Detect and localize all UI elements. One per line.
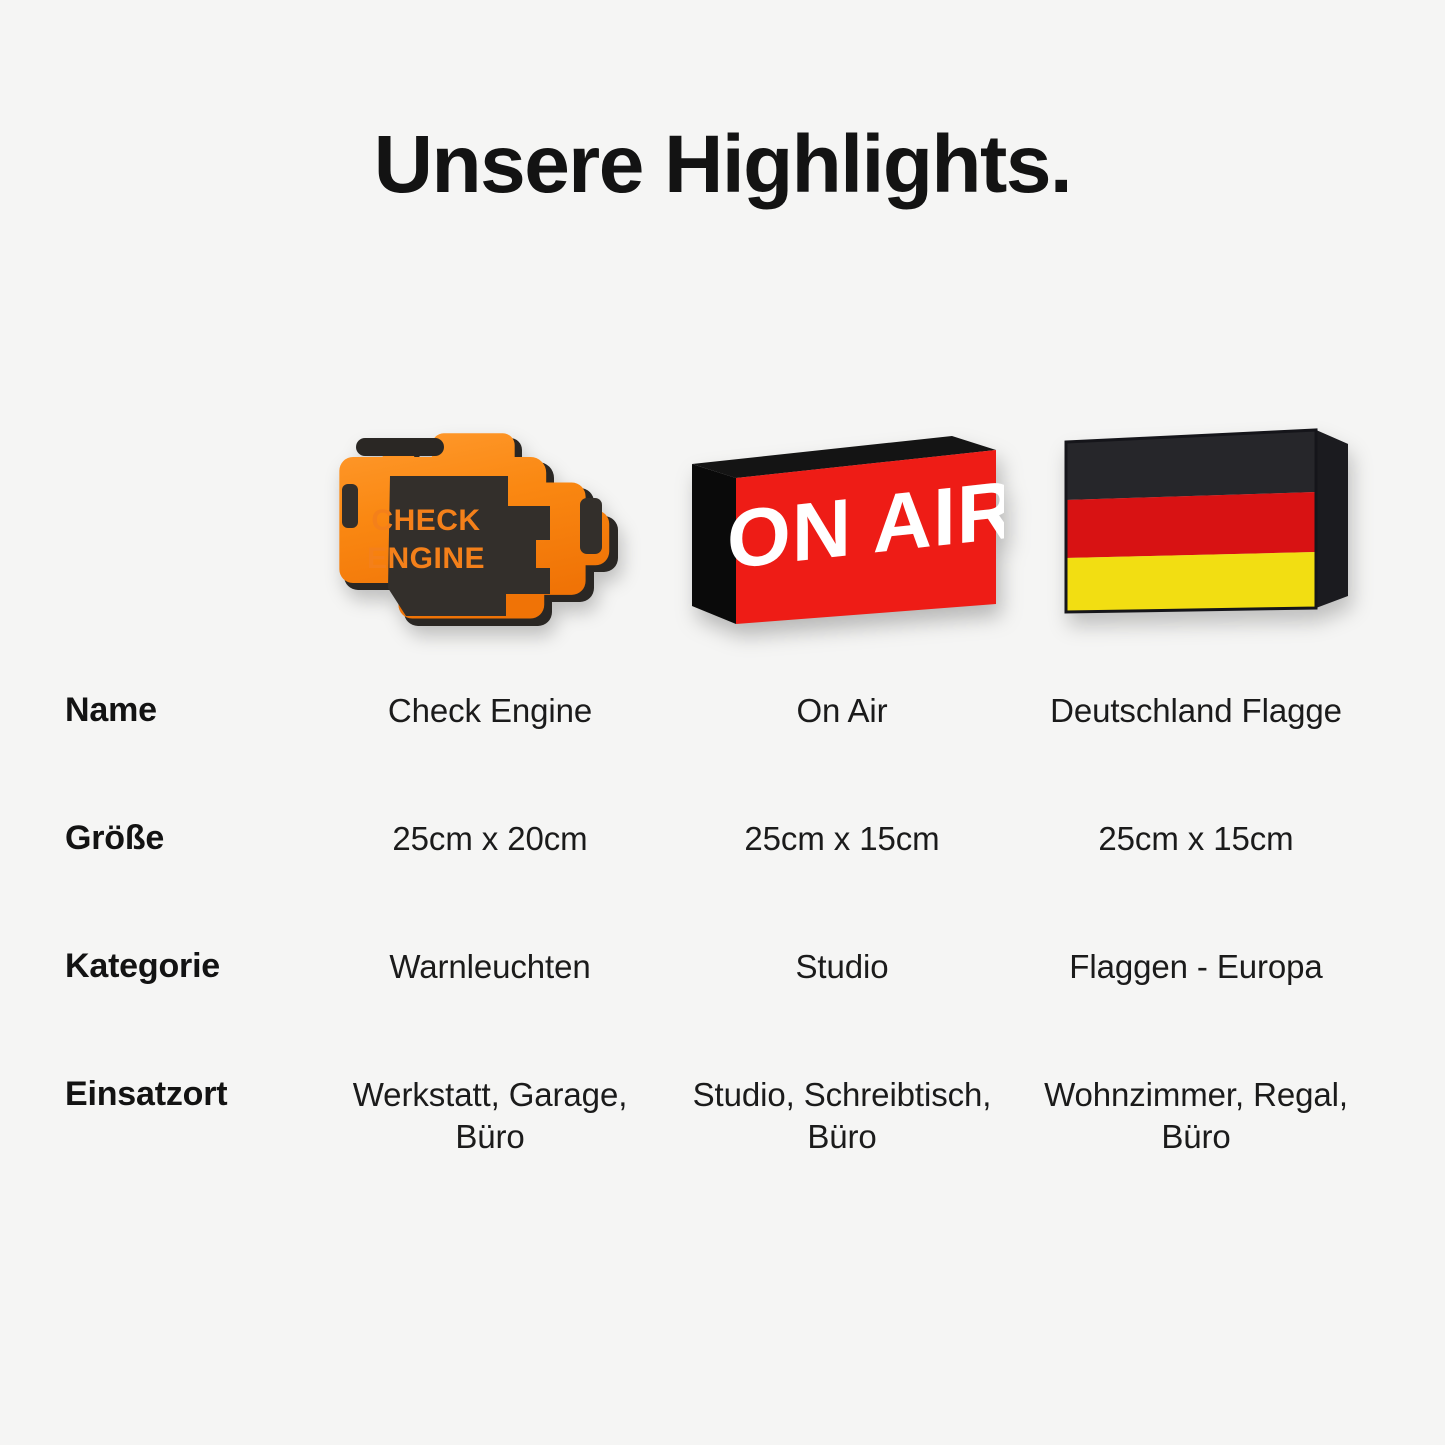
flag-side-face [1316,430,1348,608]
product-image-check-engine[interactable]: CHECK ENGINE [320,410,660,660]
page-title: Unsere Highlights. [0,124,1445,206]
cell-einsatzort-deutschland-flagge: Wohnzimmer, Regal, Büro [1026,1074,1366,1158]
check-engine-label-line1: CHECK [371,504,480,537]
cell-groesse-on-air: 25cm x 15cm [672,818,1012,860]
product-image-row: CHECK ENGINE ON AIR [0,410,1445,660]
product-image-deutschland-flagge[interactable] [1026,410,1366,660]
cell-einsatzort-check-engine: Werkstatt, Garage, Büro [320,1074,660,1158]
highlights-page: Unsere Highlights. [0,0,1445,1445]
cell-kategorie-check-engine: Warnleuchten [320,946,660,988]
on-air-lightbox-icon: ON AIR [684,428,1004,638]
table-row: Größe 25cm x 20cm 25cm x 15cm 25cm x 15c… [0,818,1445,946]
german-flag-lightbox-icon [1048,418,1368,634]
table-row: Name Check Engine On Air Deutschland Fla… [0,690,1445,818]
cell-groesse-deutschland-flagge: 25cm x 15cm [1026,818,1366,860]
check-engine-svg: CHECK ENGINE [328,416,648,648]
german-flag-svg [1048,418,1368,634]
table-row: Kategorie Warnleuchten Studio Flaggen - … [0,946,1445,1074]
check-engine-label-line2: ENGINE [367,542,485,575]
flag-band-gold [1066,552,1316,612]
table-row: Einsatzort Werkstatt, Garage, Büro Studi… [0,1074,1445,1224]
flag-band-red [1066,492,1316,558]
cell-name-on-air: On Air [672,690,1012,732]
product-image-on-air[interactable]: ON AIR [672,410,1012,660]
cell-kategorie-deutschland-flagge: Flaggen - Europa [1026,946,1366,988]
cell-einsatzort-on-air: Studio, Schreibtisch, Büro [672,1074,1012,1158]
cell-kategorie-on-air: Studio [672,946,1012,988]
cell-name-deutschland-flagge: Deutschland Flagge [1026,690,1366,732]
on-air-svg: ON AIR [684,428,1004,638]
cell-groesse-check-engine: 25cm x 20cm [320,818,660,860]
spec-table: Name Check Engine On Air Deutschland Fla… [0,690,1445,1224]
check-engine-lamp-icon: CHECK ENGINE [328,416,648,648]
cell-name-check-engine: Check Engine [320,690,660,732]
